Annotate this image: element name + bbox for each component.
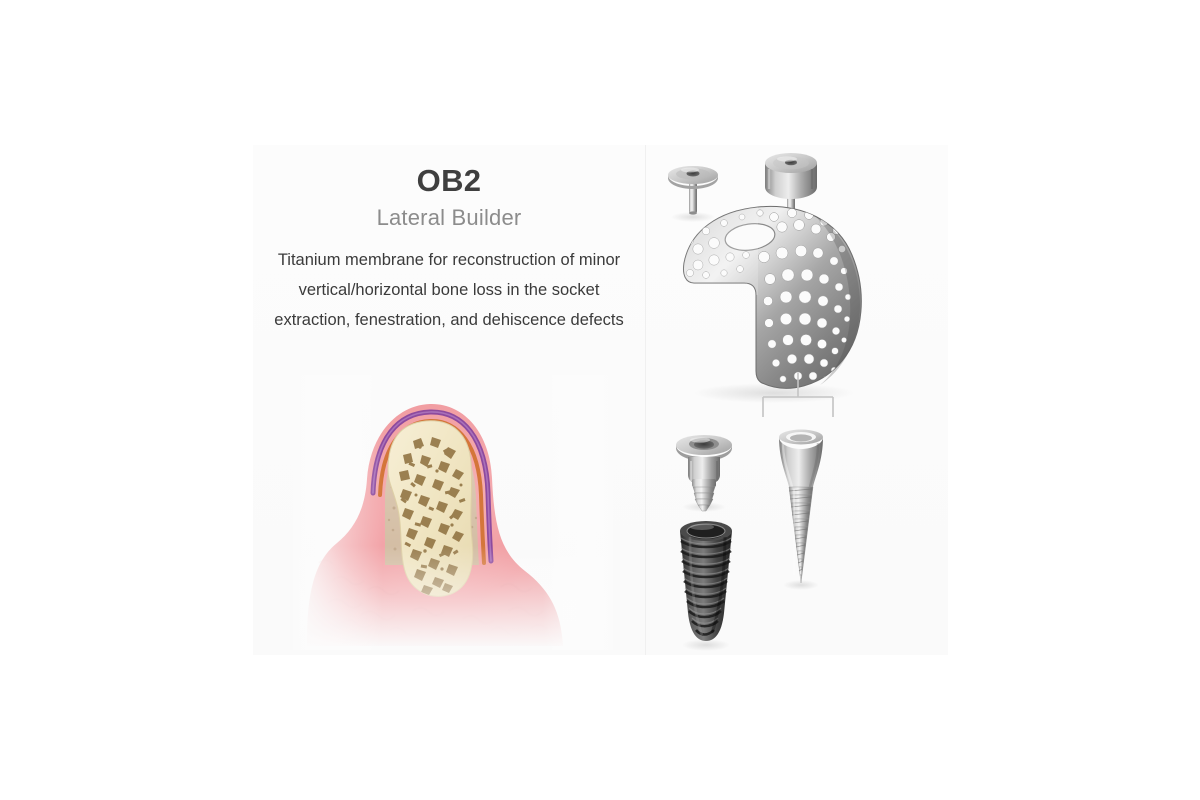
fixation-screw — [779, 430, 823, 591]
cover-screw — [676, 435, 732, 512]
product-info-panel: OB2 Lateral Builder Titanium membrane fo… — [253, 145, 645, 655]
product-card: OB2 Lateral Builder Titanium membrane fo… — [253, 145, 948, 655]
page-title: OB2 — [253, 163, 645, 199]
page-root: OB2 Lateral Builder Titanium membrane fo… — [0, 0, 1200, 800]
dental-implant — [680, 521, 732, 651]
product-description: Titanium membrane for reconstruction of … — [263, 245, 635, 335]
socket-cross-section-svg — [293, 375, 613, 650]
components-svg — [646, 145, 948, 655]
product-subtitle: Lateral Builder — [253, 205, 645, 231]
small-healing-cap — [668, 166, 718, 222]
titanium-membrane — [683, 206, 861, 403]
socket-illustration — [293, 375, 613, 650]
product-components-panel — [646, 145, 948, 655]
